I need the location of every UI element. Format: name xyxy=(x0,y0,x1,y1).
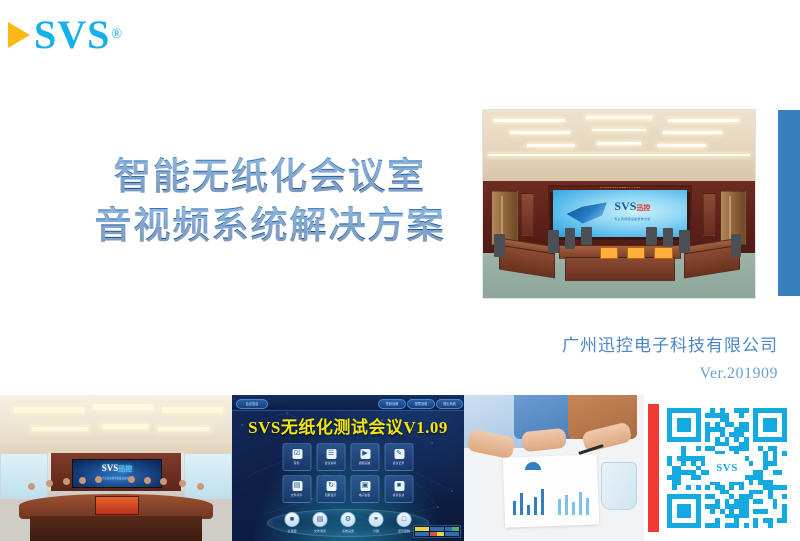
ui-button-signin-settings[interactable]: 签到设置 xyxy=(378,399,406,409)
ui-tile-documents[interactable]: ☰ 会议资料 xyxy=(317,443,346,471)
ui-button-exit-system[interactable]: 退出系统 xyxy=(436,399,463,409)
share-icon: ⚭ xyxy=(369,512,384,527)
qr-code[interactable]: SVS xyxy=(667,408,787,528)
registered-trademark-icon: ® xyxy=(111,27,122,43)
page-title-line1: 智能无纸化会议室 xyxy=(60,152,480,201)
strip-photo-meeting-room: SVS迅控 专业音视频系统集成服务商 xyxy=(0,395,232,541)
page-title-line2: 音视频系统解决方案 xyxy=(60,201,480,250)
brand-logo-text: SVS xyxy=(34,15,110,55)
home-icon: ■ xyxy=(285,512,300,527)
strip-qr-panel: SVS xyxy=(644,395,800,541)
decor-red-bar xyxy=(648,404,659,532)
ui-tile-signin[interactable]: ☑ 签到 xyxy=(283,443,312,471)
bottom-image-strip: SVS迅控 专业音视频系统集成服务商 xyxy=(0,395,800,541)
gear-icon: ⚙ xyxy=(341,512,356,527)
strip-photo-business-meeting xyxy=(464,395,644,541)
dock-item-home[interactable]: ■ 主页面 xyxy=(285,512,300,533)
led-logo: SVS迅控 专业音视频设备整体方案 xyxy=(614,201,650,225)
doc-icon: ▤ xyxy=(313,512,328,527)
ui-tile-whiteboard[interactable]: ▣ 电子白板 xyxy=(351,475,380,503)
company-name: 广州迅控电子科技有限公司 xyxy=(562,331,778,356)
brand-logo: SVS ® xyxy=(8,13,122,57)
file-icon: ☰ xyxy=(326,449,336,459)
ui-button-meeting-info[interactable]: 会议信息 xyxy=(236,399,268,409)
led-graphic xyxy=(567,202,607,223)
chart-paper xyxy=(502,455,598,528)
decor-blue-bar xyxy=(778,110,800,296)
camera-icon: ▣ xyxy=(360,481,370,491)
folder-icon: ▤ xyxy=(292,481,302,491)
ui-status-indicators xyxy=(413,525,461,538)
ui-button-vote-settings[interactable]: 投票设置 xyxy=(407,399,435,409)
slide-cover: SVS ® 智能无纸化会议室 音视频系统解决方案 xyxy=(0,0,800,541)
ui-tile-minutes[interactable]: ✎ 会议记录 xyxy=(385,443,414,471)
video-icon: ▶ xyxy=(360,449,370,459)
version-label: Ver.201909 xyxy=(700,365,778,383)
ui-tile-screenshare[interactable]: ↻ 同屏显示 xyxy=(317,475,346,503)
dock-item-files[interactable]: ▤ 文件浏览 xyxy=(313,512,328,533)
strip-software-ui: 会议信息 签到设置 投票设置 退出系统 SVS无纸化测试会议V1.09 ☑ 签到… xyxy=(232,395,464,541)
ui-tile-grid: ☑ 签到 ☰ 会议资料 ▶ 视频点播 ✎ 会议记录 xyxy=(283,443,414,503)
ceiling xyxy=(483,110,755,181)
dock-item-split[interactable]: ⚭ 分屏 xyxy=(369,512,384,533)
qr-center-label: SVS xyxy=(709,454,745,482)
ui-tile-video[interactable]: ▶ 视频点播 xyxy=(351,443,380,471)
dock-item-settings[interactable]: ⚙ 系统设置 xyxy=(341,512,356,533)
water-glass xyxy=(601,462,637,510)
dock-item-display[interactable]: □ 显示控制 xyxy=(397,512,412,533)
page-title: 智能无纸化会议室 音视频系统解决方案 xyxy=(60,152,480,250)
hero-conference-room-image: 热烈欢迎各位领导莅临指导工作会议室 SVS迅控 专业音视频设备整体方案 xyxy=(482,109,756,299)
panel1-laptop xyxy=(95,496,139,516)
ui-dock: ■ 主页面 ▤ 文件浏览 ⚙ 系统设置 ⚭ 分屏 xyxy=(285,512,412,533)
clipboard-icon: ☑ xyxy=(292,449,302,459)
vote-icon: ■ xyxy=(394,481,404,491)
monitor-icon: □ xyxy=(397,512,412,527)
ui-top-bar: 会议信息 签到设置 投票设置 退出系统 xyxy=(232,395,464,411)
ui-app-title: SVS无纸化测试会议V1.09 xyxy=(232,413,464,438)
ui-tile-fileshare[interactable]: ▤ 文件共享 xyxy=(283,475,312,503)
note-icon: ✎ xyxy=(394,449,404,459)
triangle-icon xyxy=(8,22,30,48)
screen-icon: ↻ xyxy=(326,481,336,491)
ui-tile-vote[interactable]: ■ 投票表决 xyxy=(385,475,414,503)
